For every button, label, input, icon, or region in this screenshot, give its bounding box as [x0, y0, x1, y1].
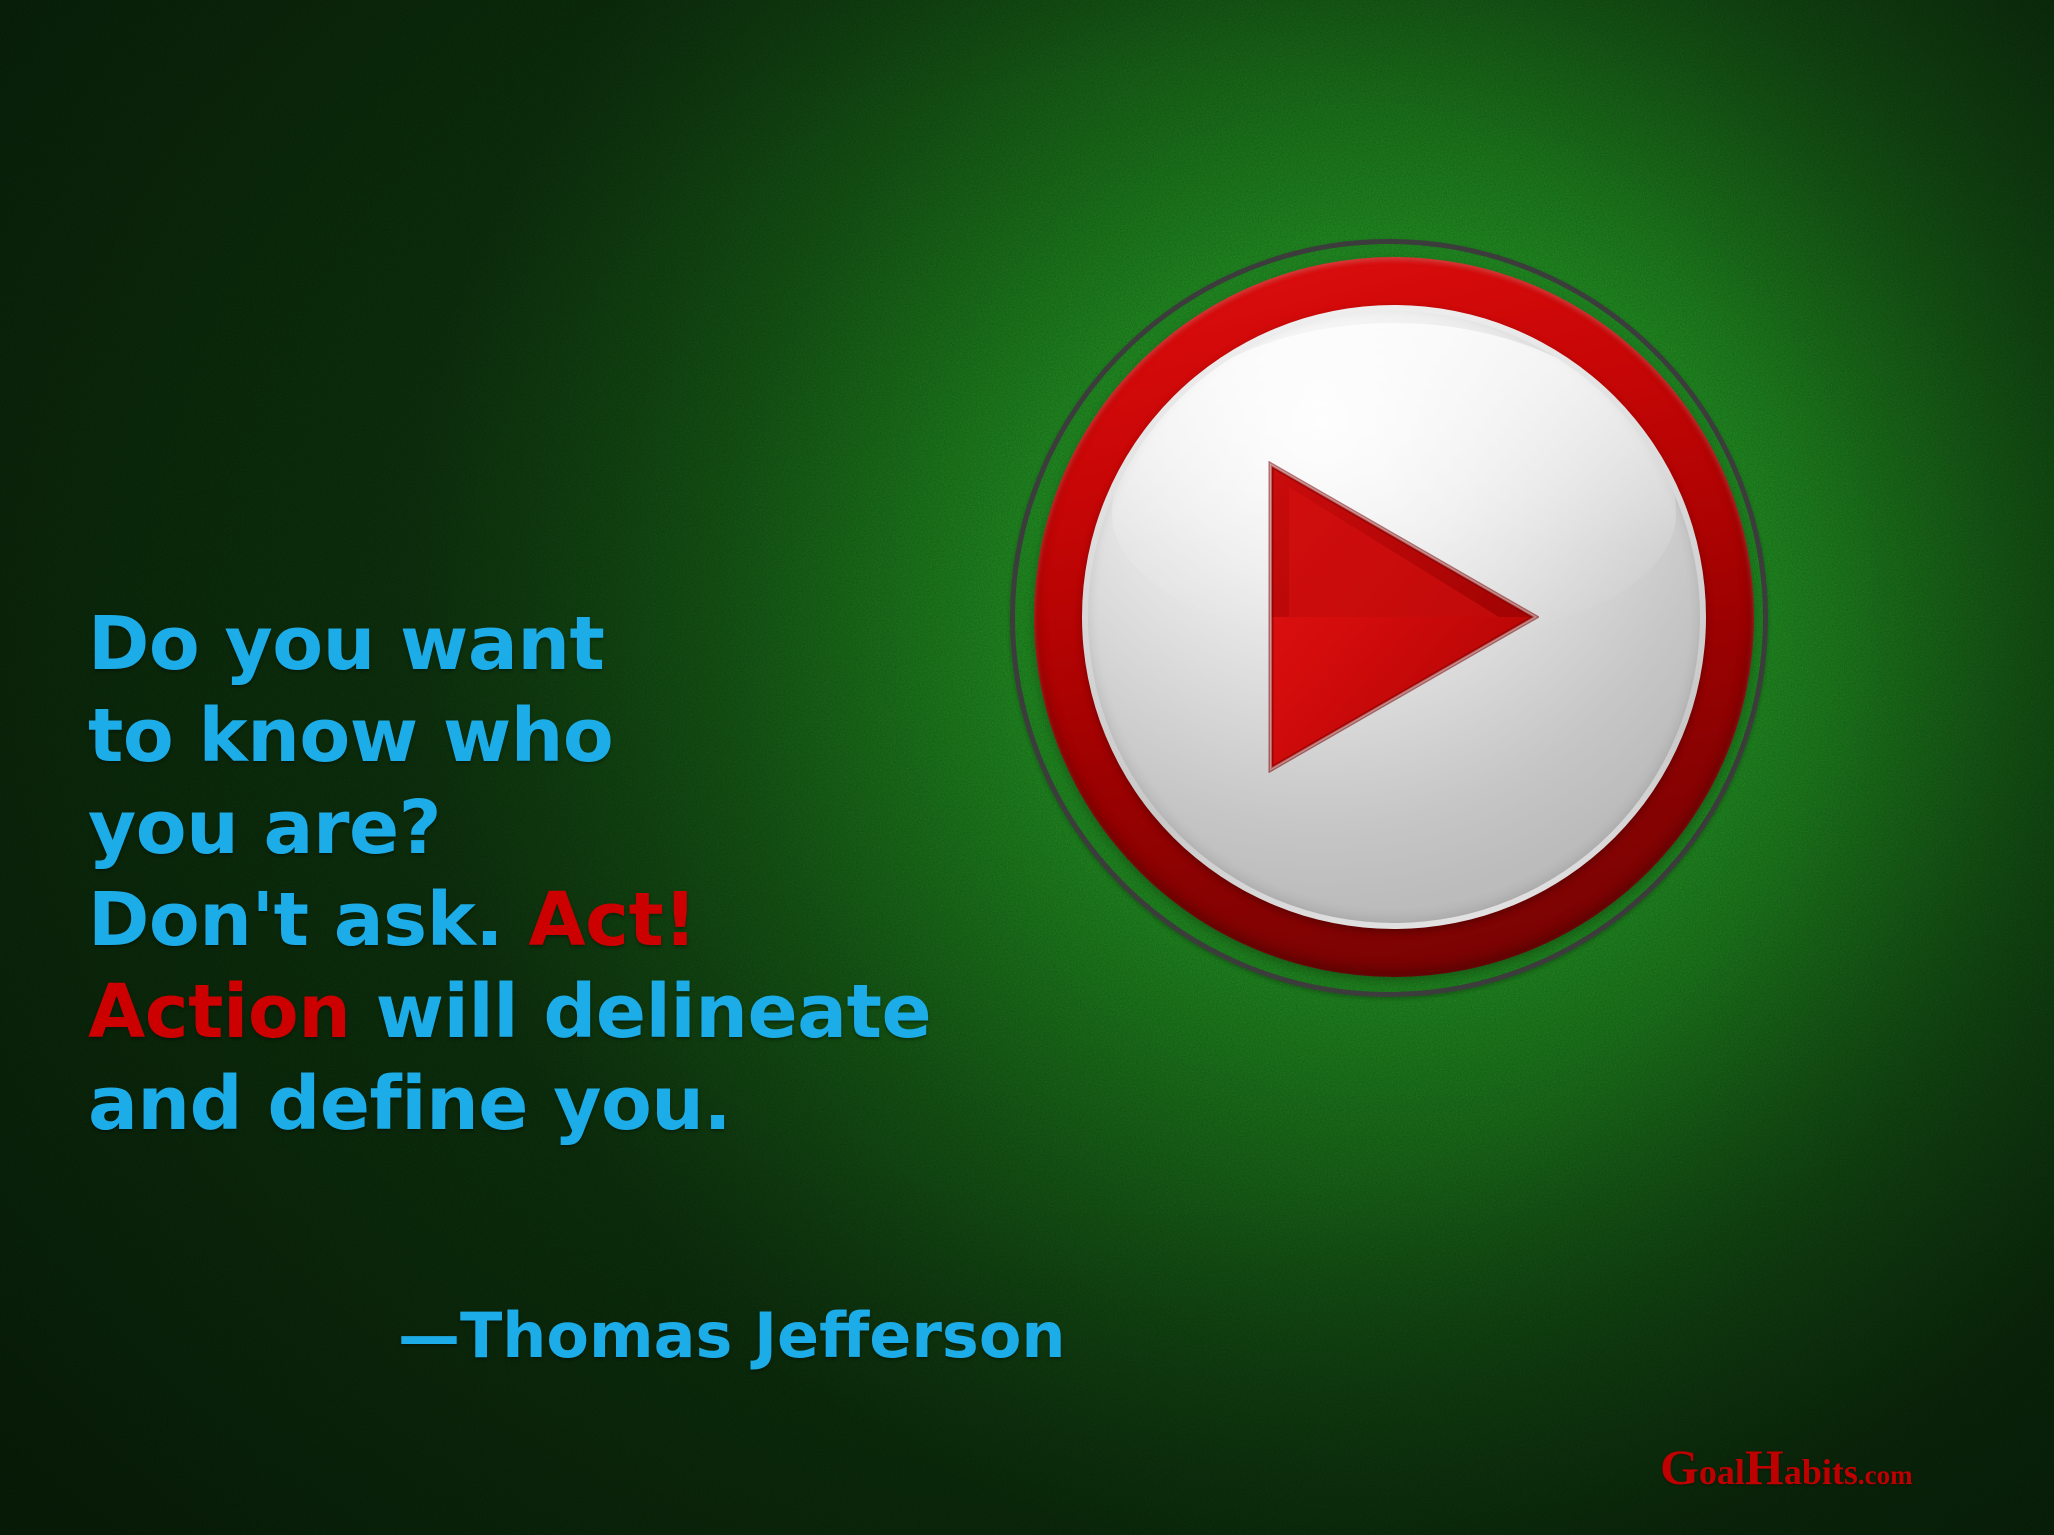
attribution-text: —Thomas Jefferson — [398, 1298, 1068, 1374]
site-logo[interactable]: GoalHabits.com — [1660, 1438, 1913, 1496]
quote-line-5-blue: will delineate — [350, 969, 931, 1055]
quote-line-6: and define you. — [88, 1058, 1068, 1150]
logo-text-oal: oal — [1699, 1452, 1745, 1492]
logo-letter-h: H — [1745, 1439, 1784, 1495]
quote-line-4-blue: Don't ask. — [88, 877, 528, 963]
logo-text-abits: abits — [1784, 1452, 1858, 1492]
play-icon — [1267, 461, 1539, 773]
quote-line-1: Do you want — [88, 598, 1068, 690]
quote-poster: Do you want to know who you are? Don't a… — [0, 0, 2054, 1535]
logo-letter-g: G — [1660, 1439, 1699, 1495]
play-button[interactable] — [1010, 239, 1776, 1005]
quote-line-3: you are? — [88, 782, 1068, 874]
quote-line-5: Action will delineate — [88, 966, 1068, 1058]
quote-line-4-red-act: Act! — [528, 877, 696, 963]
quote-line-4: Don't ask. Act! — [88, 874, 1068, 966]
quote-line-5-red-action: Action — [88, 969, 350, 1055]
quote-text-block: Do you want to know who you are? Don't a… — [88, 598, 1068, 1150]
quote-line-2: to know who — [88, 690, 1068, 782]
logo-tld: .com — [1858, 1460, 1913, 1490]
quote-attribution: —Thomas Jefferson — [88, 1298, 1068, 1374]
